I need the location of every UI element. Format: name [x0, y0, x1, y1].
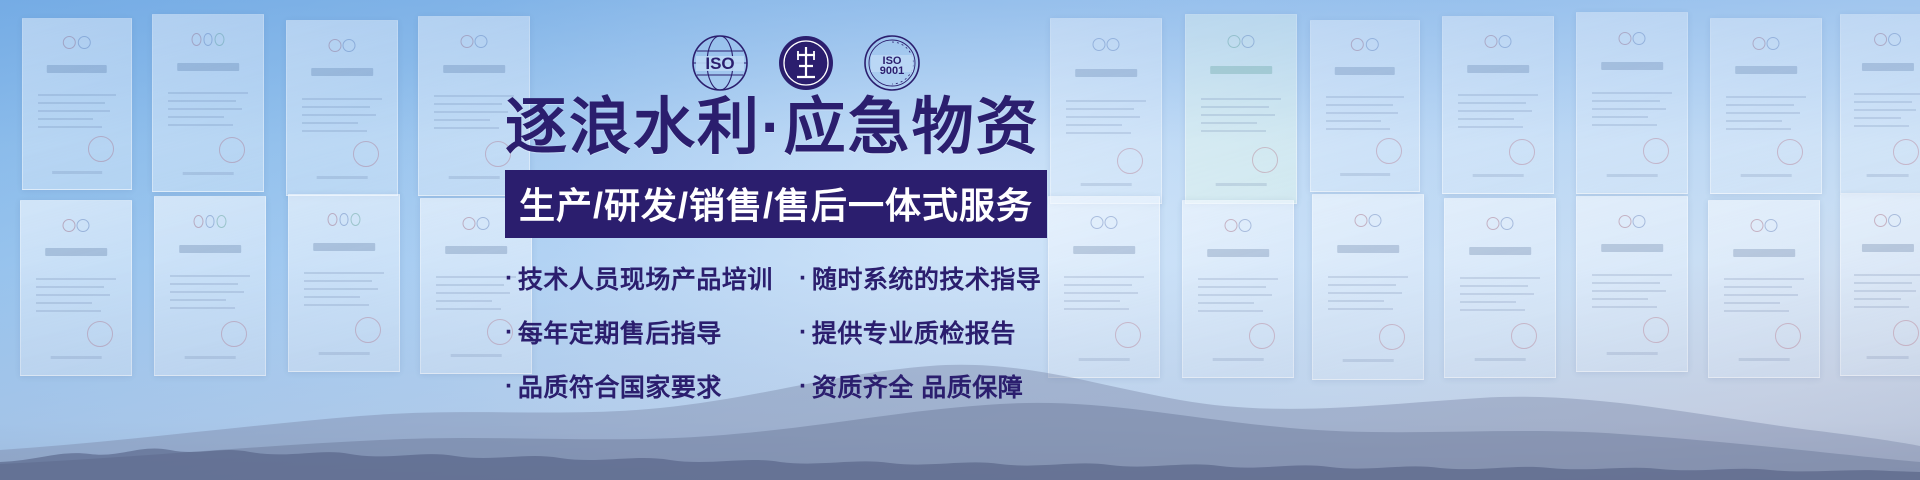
feature-label: 品质符合国家要求	[518, 368, 722, 404]
feature-label: 随时系统的技术指导	[812, 260, 1042, 296]
feature-item: · 品质符合国家要求	[505, 368, 785, 404]
quality-seal-badge	[776, 33, 836, 93]
bullet-marker-icon: ·	[799, 266, 808, 291]
feature-item: · 技术人员现场产品培训	[505, 260, 785, 296]
banner-subtitle-bar: 生产/研发/销售/售后一体式服务	[505, 170, 1047, 238]
bullet-marker-icon: ·	[505, 266, 514, 291]
promo-banner: ISO ISO 9001 逐浪水利·应急物资 生产/研发/销售/售后一体式服务 …	[0, 0, 1920, 480]
bullet-marker-icon: ·	[505, 374, 514, 399]
feature-label: 资质齐全 品质保障	[812, 368, 1023, 404]
feature-label: 技术人员现场产品培训	[518, 260, 773, 296]
svg-text:9001: 9001	[880, 65, 904, 77]
bullet-marker-icon: ·	[799, 320, 808, 345]
iso-badge: ISO	[690, 33, 750, 93]
feature-item: · 资质齐全 品质保障	[799, 368, 1049, 404]
feature-item: · 随时系统的技术指导	[799, 260, 1049, 296]
banner-title: 逐浪水利·应急物资	[505, 95, 1085, 160]
feature-label: 每年定期售后指导	[518, 314, 722, 350]
feature-label: 提供专业质检报告	[812, 314, 1016, 350]
certification-badges: ISO ISO 9001	[690, 33, 922, 93]
bullet-marker-icon: ·	[799, 374, 808, 399]
banner-content: 逐浪水利·应急物资 生产/研发/销售/售后一体式服务 · 技术人员现场产品培训 …	[505, 95, 1085, 404]
svg-text:ISO: ISO	[705, 54, 734, 73]
tree-line-silhouette	[0, 410, 1920, 480]
feature-item: · 提供专业质检报告	[799, 314, 1049, 350]
iso-9001-badge: ISO 9001	[862, 33, 922, 93]
bullet-marker-icon: ·	[505, 320, 514, 345]
feature-item: · 每年定期售后指导	[505, 314, 785, 350]
feature-list: · 技术人员现场产品培训 · 随时系统的技术指导 · 每年定期售后指导 · 提供…	[505, 260, 1085, 404]
